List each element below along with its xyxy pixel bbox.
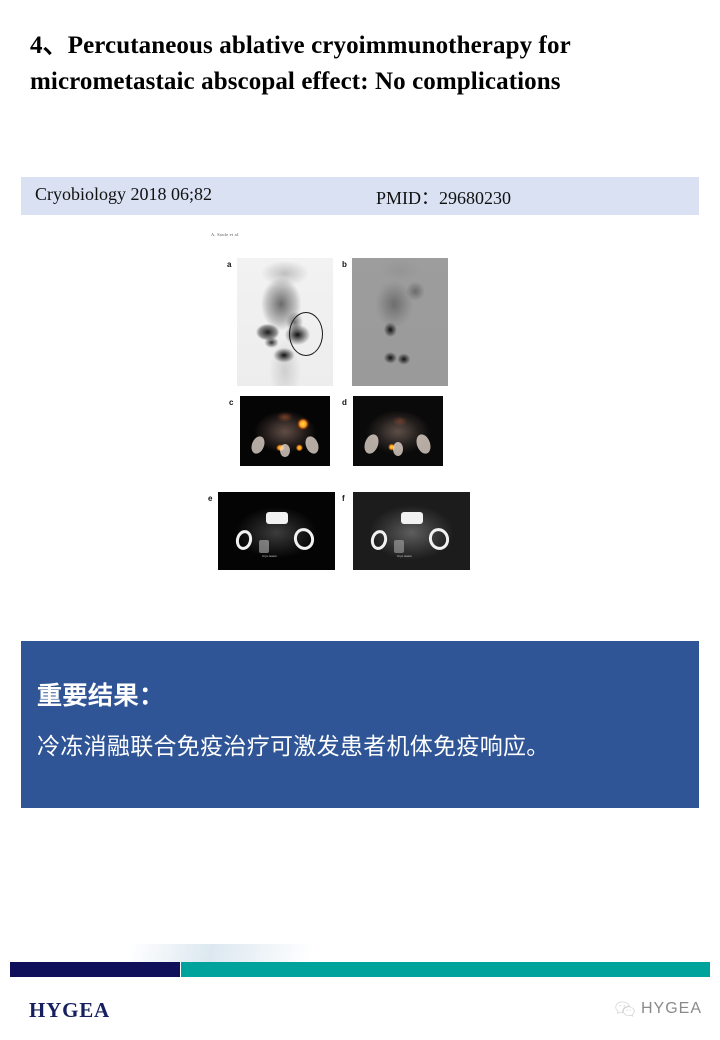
- conclusion-heading: 重要结果：: [37, 676, 165, 712]
- cryo-lesion-marker: [394, 540, 404, 553]
- pelvic-bone-left: [249, 434, 267, 455]
- conclusion-box: 重要结果： 冷冻消融联合免疫治疗可激发患者机体免疫响应。: [21, 641, 699, 808]
- figure-panel-c: [240, 396, 330, 466]
- panel-label-f: f: [342, 494, 345, 503]
- footer-wechat-label: HYGEA: [641, 1000, 702, 1018]
- ct-overlay-caption: Cryo lesion: [262, 554, 277, 558]
- femoral-head-right: [426, 525, 452, 552]
- figure-panel-f: Cryo lesion: [353, 492, 470, 570]
- footer-bar-navy: [10, 962, 180, 977]
- footer-glow-accent: [130, 944, 310, 962]
- sacrum-bone: [393, 442, 403, 456]
- sacrum-bone: [401, 512, 423, 524]
- panel-label-d: d: [342, 398, 347, 407]
- figure-journal-header: A. Soule et al.: [211, 232, 240, 237]
- panel-label-b: b: [342, 260, 347, 269]
- footer-bar-teal: [181, 962, 710, 977]
- footer-wechat-group: HYGEA: [615, 1000, 702, 1018]
- pelvic-bone-left: [362, 432, 381, 455]
- femoral-head-right: [291, 525, 317, 552]
- femoral-head-left: [234, 528, 254, 551]
- femoral-head-left: [369, 528, 389, 551]
- lesion-ellipse-annotation: [289, 312, 323, 356]
- pelvic-bone-right: [303, 434, 321, 455]
- panel-label-c: c: [229, 398, 233, 407]
- citation-journal: Cryobiology 2018 06;82: [35, 184, 212, 205]
- figure-panel-b: [352, 258, 448, 386]
- conclusion-text: 冷冻消融联合免疫治疗可激发患者机体免疫响应。: [37, 727, 550, 761]
- wechat-icon: [615, 1001, 635, 1018]
- citation-pmid: PMID：29680230: [376, 184, 511, 210]
- figure-panel-e: Cryo lesion: [218, 492, 335, 570]
- figure-panel-d: [353, 396, 443, 466]
- footer-brand-logo: HYGEA: [29, 998, 110, 1023]
- panel-label-e: e: [208, 494, 212, 503]
- page-title: 4、Percutaneous ablative cryoimmunotherap…: [30, 28, 680, 100]
- ct-overlay-caption: Cryo lesion: [397, 554, 412, 558]
- citation-bar: Cryobiology 2018 06;82 PMID：29680230: [21, 177, 699, 215]
- panel-label-a: a: [227, 260, 231, 269]
- figure-panel-a: [237, 258, 333, 386]
- sacrum-bone: [280, 444, 290, 457]
- figure-panel-group: A. Soule et al. a b c d e Cryo lesion f …: [205, 232, 475, 577]
- cryo-lesion-marker: [259, 540, 269, 553]
- sacrum-bone: [266, 512, 288, 524]
- pelvic-bone-right: [414, 432, 433, 455]
